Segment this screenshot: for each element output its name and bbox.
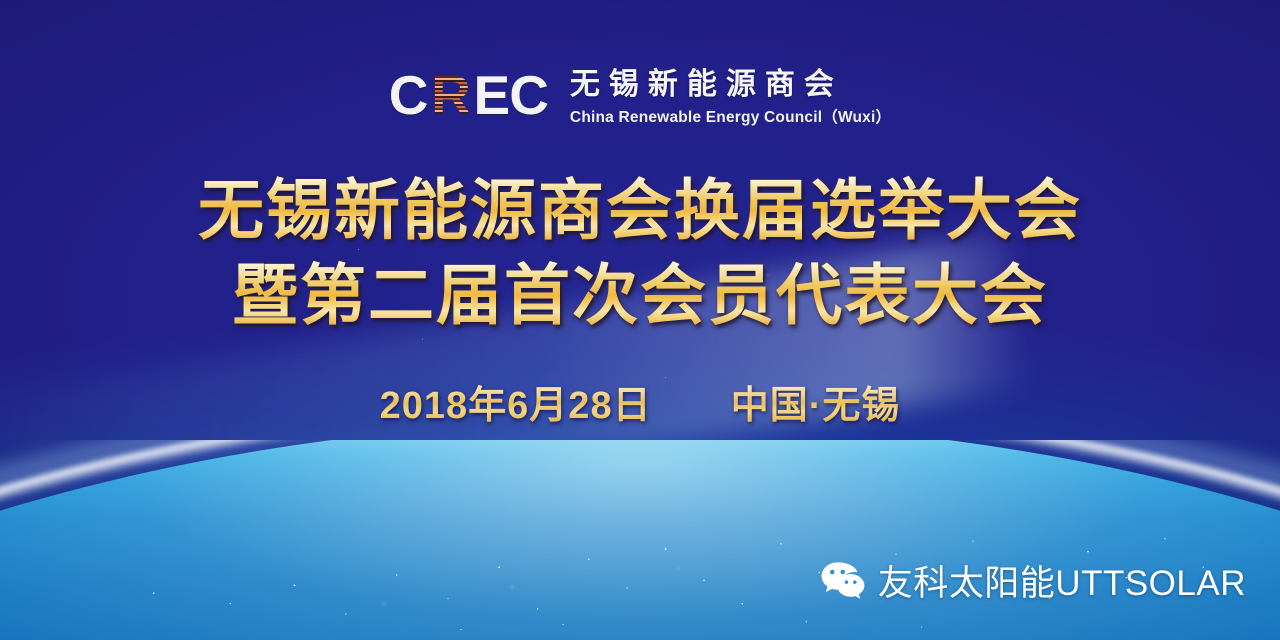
crec-acronym: C R EC xyxy=(389,66,548,124)
org-name-english: China Renewable Energy Council（Wuxi） xyxy=(570,105,891,127)
crec-letter-c: C xyxy=(389,68,428,123)
event-title-line1: 无锡新能源商会换届选举大会 xyxy=(0,172,1280,249)
earth-horizon xyxy=(0,440,1280,640)
org-name-block: 无锡新能源商会 China Renewable Energy Council（W… xyxy=(570,66,891,127)
wechat-watermark: 友科太阳能UTTSOLAR xyxy=(820,555,1246,606)
crec-letter-r: R xyxy=(429,70,473,120)
event-date: 2018年6月28日 xyxy=(380,385,652,427)
event-location: 中国·无锡 xyxy=(731,385,901,427)
crec-letters-ec: EC xyxy=(474,68,548,123)
poster-canvas: C R EC 无锡新能源商会 China Renewable Energy Co… xyxy=(0,0,1280,640)
event-title: 无锡新能源商会换届选举大会 暨第二届首次会员代表大会 xyxy=(0,172,1280,334)
org-name-chinese: 无锡新能源商会 xyxy=(570,69,891,101)
org-logo: C R EC 无锡新能源商会 China Renewable Energy Co… xyxy=(0,66,1280,132)
wechat-icon xyxy=(820,561,866,601)
wechat-account-name: 友科太阳能UTTSOLAR xyxy=(878,555,1246,606)
crec-striped-r-icon: R xyxy=(429,70,473,120)
event-title-line2: 暨第二届首次会员代表大会 xyxy=(0,257,1280,334)
event-meta: 2018年6月28日 中国·无锡 xyxy=(0,374,1280,429)
